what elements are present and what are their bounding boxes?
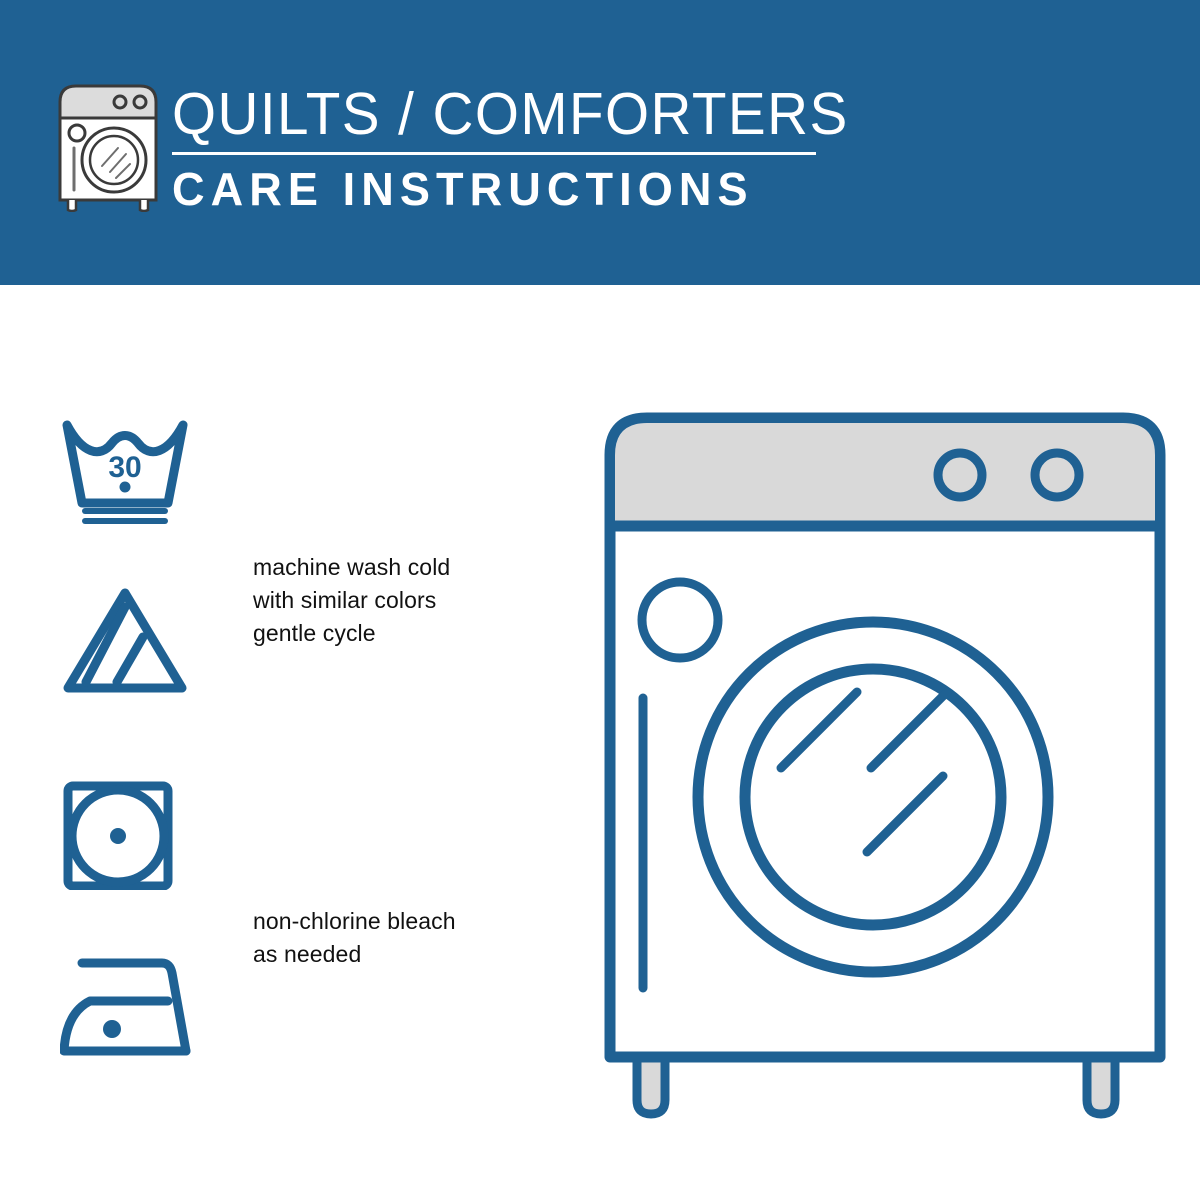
- tumble-dry-icon: [60, 780, 190, 895]
- header-banner: QUILTS / COMFORTERS CARE INSTRUCTIONS: [0, 0, 1200, 285]
- title-divider: [172, 152, 816, 155]
- wash-tub-icon: 30: [60, 415, 190, 530]
- care-instructions-infographic: QUILTS / COMFORTERS CARE INSTRUCTIONS 30: [0, 0, 1200, 1200]
- care-row-iron: iron if needed low heat: [0, 953, 520, 1083]
- iron-icon: [60, 953, 205, 1068]
- care-row-wash: 30 machine wash cold with similar colors…: [0, 415, 520, 565]
- page-subtitle: CARE INSTRUCTIONS: [172, 164, 809, 214]
- bleach-triangle-icon: [60, 585, 190, 700]
- care-symbol-list: 30 machine wash cold with similar colors…: [0, 285, 560, 1200]
- washing-machine-illustration: [595, 400, 1175, 1130]
- page-title: QUILTS / COMFORTERS: [172, 82, 796, 146]
- washing-machine-logo-icon: [52, 78, 164, 212]
- care-row-tumble-dry: tumble dry low heat: [0, 780, 520, 910]
- care-row-bleach: non-chlorine bleach as needed: [0, 585, 520, 725]
- svg-text:30: 30: [108, 451, 141, 484]
- control-panel: [615, 423, 1155, 526]
- header-text-block: QUILTS / COMFORTERS CARE INSTRUCTIONS: [172, 82, 822, 214]
